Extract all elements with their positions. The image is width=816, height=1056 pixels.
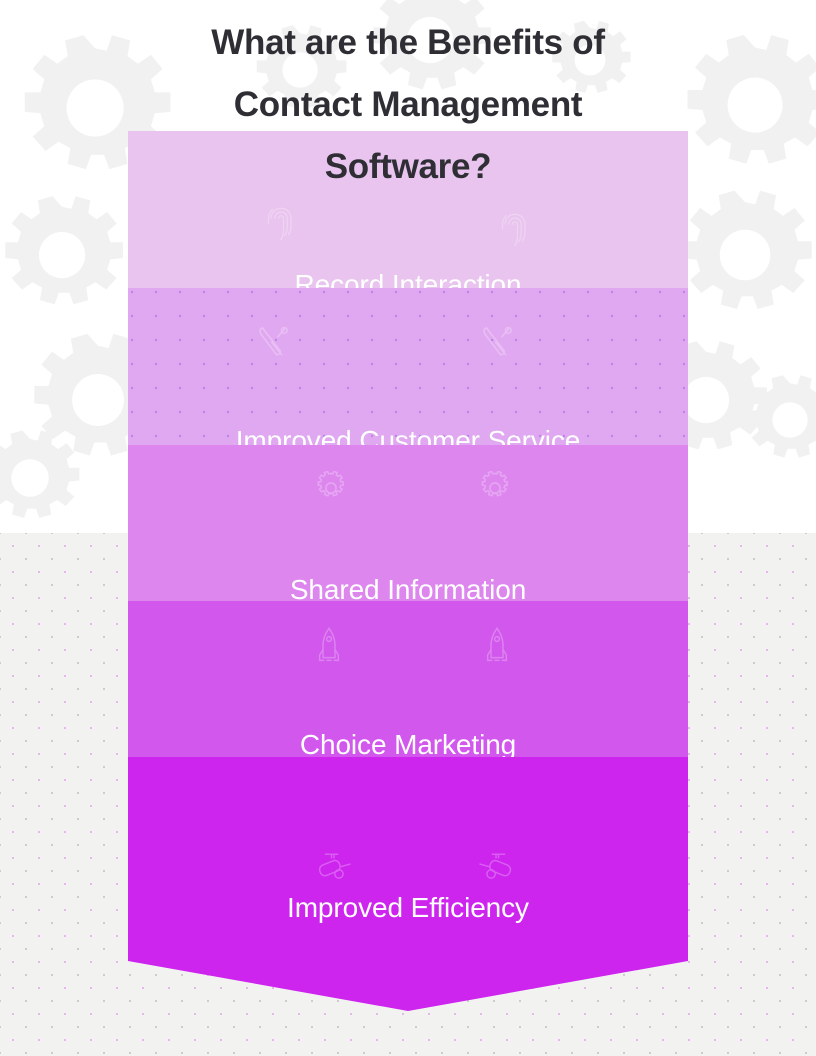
- funnel-segment-label: Improved Efficiency: [128, 890, 688, 926]
- infographic-page: What are the Benefits of Contact Managem…: [0, 0, 816, 1056]
- funnel-segment-shape: [128, 757, 688, 1011]
- page-title-line-1: What are the Benefits of: [70, 12, 746, 74]
- page-title-line-3: Software?: [70, 136, 746, 198]
- funnel-segment-improved-efficiency[interactable]: Improved Efficiency: [128, 757, 688, 1011]
- page-title-line-2: Contact Management: [70, 74, 746, 136]
- page-title: What are the Benefits of Contact Managem…: [0, 12, 816, 198]
- funnel-chart: Record Interaction: [128, 131, 688, 1011]
